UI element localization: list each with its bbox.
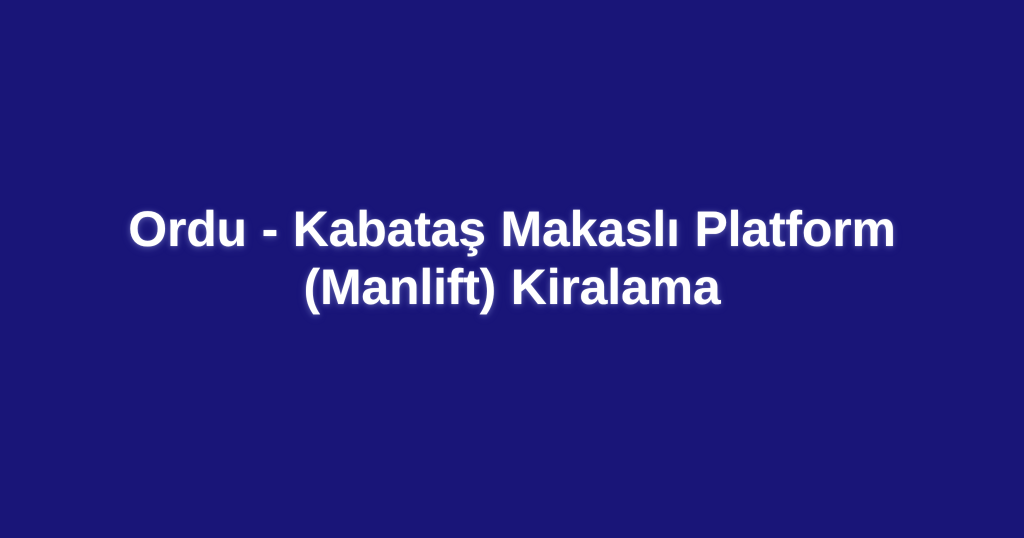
page-title-line-2: (Manlift) Kiralama — [60, 258, 964, 316]
share-card: Ordu - Kabataş Makaslı Platform (Manlift… — [0, 0, 1024, 538]
page-title-line-1: Ordu - Kabataş Makaslı Platform — [60, 200, 964, 258]
page-title: Ordu - Kabataş Makaslı Platform (Manlift… — [60, 200, 964, 316]
title-block: Ordu - Kabataş Makaslı Platform (Manlift… — [0, 200, 1024, 316]
